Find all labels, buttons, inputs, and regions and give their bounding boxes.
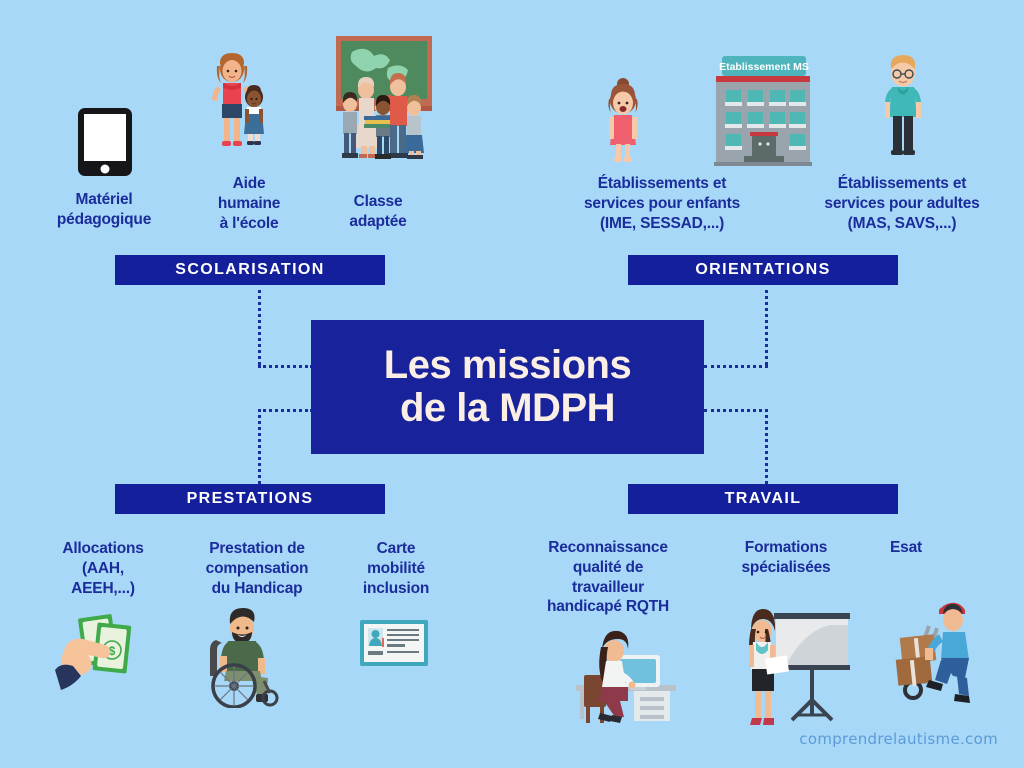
connector-travail-horizontal xyxy=(704,409,768,412)
label-classe-adaptee: Classe adaptée xyxy=(320,192,436,232)
infographic-canvas: Matériel pédagogique Aide humaine à l'éc… xyxy=(0,0,1024,768)
adult-with-child-icon xyxy=(206,52,268,167)
connector-prestations-vertical xyxy=(258,409,261,484)
label-carte-mobilite: Carte mobilité inclusion xyxy=(338,539,454,598)
wheelchair-user-icon xyxy=(202,608,294,713)
adult-man-icon xyxy=(876,54,930,163)
tablet-icon xyxy=(78,108,132,181)
connector-scolarisation-horizontal xyxy=(258,365,313,368)
id-card-icon xyxy=(360,620,428,671)
label-allocations: Allocations (AAH, AEEH,...) xyxy=(34,539,172,598)
label-services-adultes: Établissements et services pour adultes … xyxy=(796,174,1008,233)
connector-scolarisation-vertical xyxy=(258,290,261,365)
hand-money-icon: $ xyxy=(45,610,149,705)
page-title: Les missions de la MDPH xyxy=(384,344,631,430)
building-icon: Etablissement MS xyxy=(700,48,826,177)
label-esat: Esat xyxy=(862,538,950,558)
child-icon xyxy=(600,74,646,169)
label-aide-humaine: Aide humaine à l'école xyxy=(191,174,307,233)
banner-travail[interactable]: TRAVAIL xyxy=(628,484,898,514)
office-worker-icon xyxy=(562,625,682,730)
banner-prestations[interactable]: PRESTATIONS xyxy=(115,484,385,514)
center-title-box: Les missions de la MDPH xyxy=(311,320,704,454)
banner-orientations[interactable]: ORIENTATIONS xyxy=(628,255,898,285)
label-formations: Formations spécialisées xyxy=(716,538,856,578)
connector-orientations-vertical xyxy=(765,290,768,365)
watermark: comprendrelautisme.com xyxy=(799,730,998,748)
banner-scolarisation[interactable]: SCOLARISATION xyxy=(115,255,385,285)
label-rqth: Reconnaissance qualité de travailleur ha… xyxy=(524,538,692,617)
connector-travail-vertical xyxy=(765,409,768,484)
delivery-worker-icon xyxy=(893,598,991,711)
connector-prestations-horizontal xyxy=(258,409,313,412)
presenter-icon xyxy=(736,605,852,738)
building-sign-text: Etablissement MS xyxy=(719,61,809,73)
label-materiel-pedagogique: Matériel pédagogique xyxy=(28,190,180,230)
connector-orientations-horizontal xyxy=(704,365,768,368)
label-prestation-compensation: Prestation de compensation du Handicap xyxy=(184,539,330,598)
label-services-enfants: Établissements et services pour enfants … xyxy=(556,174,768,233)
classroom-icon xyxy=(328,32,438,167)
